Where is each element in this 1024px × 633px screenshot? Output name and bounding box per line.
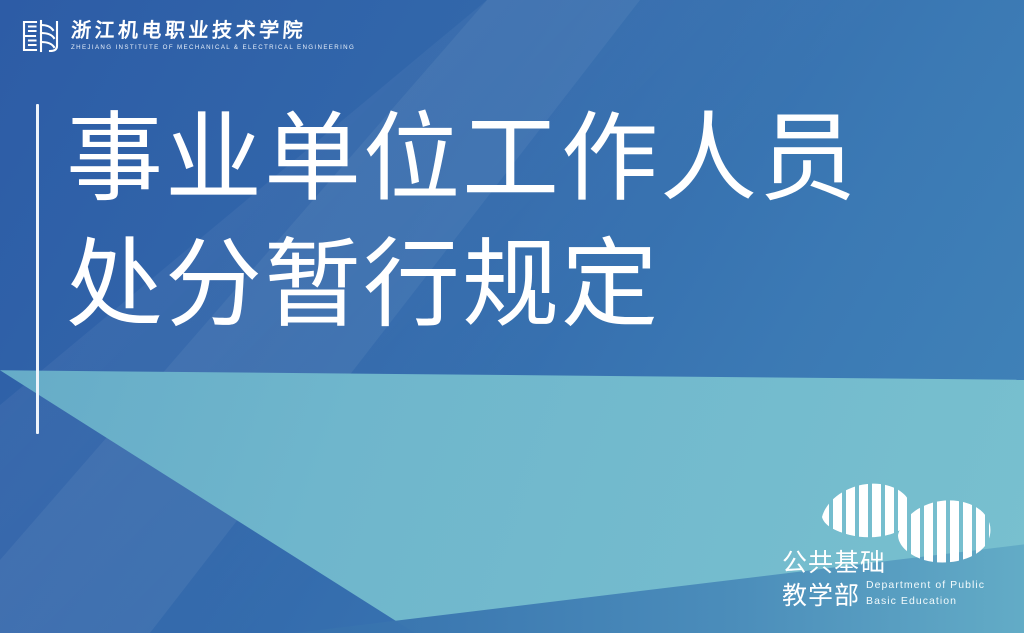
department-name-cn-line2: 教学部 xyxy=(782,582,860,611)
institute-logo-text: 浙江机电职业技术学院 ZHEJIANG INSTITUTE OF MECHANI… xyxy=(71,20,355,52)
title-line-2: 处分暂行规定 xyxy=(66,222,966,348)
institute-name-en: ZHEJIANG INSTITUTE OF MECHANICAL & ELECT… xyxy=(71,44,355,52)
department-name-en: Department of Public Basic Education xyxy=(866,579,985,611)
department-logo: 公共基础 教学部 Department of Public Basic Educ… xyxy=(774,475,1002,615)
title-vertical-rule xyxy=(36,104,39,434)
title-line-1: 事业单位工作人员 xyxy=(66,96,966,222)
department-name-cn-line1: 公共基础 xyxy=(782,549,985,578)
page-title: 事业单位工作人员 处分暂行规定 xyxy=(66,96,966,348)
department-name-en-line2: Basic Education xyxy=(866,595,985,611)
department-name-en-line1: Department of Public xyxy=(866,579,985,595)
department-name-row: 教学部 Department of Public Basic Education xyxy=(782,579,985,611)
institute-name-cn: 浙江机电职业技术学院 xyxy=(70,20,356,42)
title-slide: 浙江机电职业技术学院 ZHEJIANG INSTITUTE OF MECHANI… xyxy=(0,0,1024,633)
institute-logo: 浙江机电职业技术学院 ZHEJIANG INSTITUTE OF MECHANI… xyxy=(20,16,355,56)
department-logo-text: 公共基础 教学部 Department of Public Basic Educ… xyxy=(782,549,985,611)
seal-script-monogram-icon xyxy=(20,16,62,56)
